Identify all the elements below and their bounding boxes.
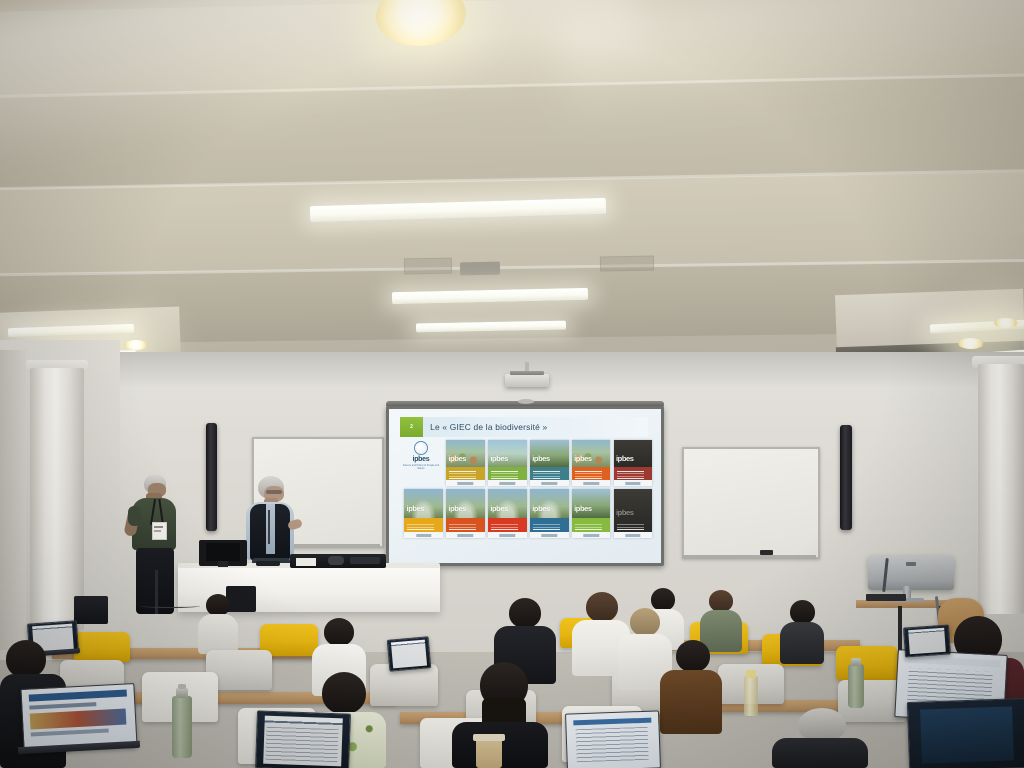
bottle-cap[interactable] bbox=[851, 658, 861, 666]
laptop[interactable] bbox=[387, 636, 432, 672]
cover-footer-mark bbox=[541, 534, 556, 536]
report-cover[interactable]: ipbes bbox=[488, 489, 527, 538]
name-badge-line bbox=[154, 530, 161, 532]
laptop-text-line bbox=[29, 702, 96, 709]
lanyard-cord bbox=[268, 510, 270, 544]
coffee-cup-lid bbox=[473, 734, 505, 741]
column-left bbox=[30, 368, 84, 630]
av-keypad[interactable] bbox=[350, 557, 380, 564]
floor-cable bbox=[140, 604, 200, 608]
audience-hair bbox=[798, 708, 846, 742]
report-cover[interactable]: ipbes bbox=[530, 440, 569, 486]
laptop[interactable] bbox=[255, 710, 351, 768]
bottle-loop bbox=[178, 684, 186, 689]
lectern-monitor-stand bbox=[218, 560, 228, 567]
ipbes-globe-icon bbox=[414, 441, 428, 455]
laptop-text-rows bbox=[266, 726, 339, 762]
audience-torso bbox=[660, 670, 722, 734]
cover-text-lines bbox=[449, 523, 476, 531]
lectern-monitor-screen bbox=[206, 543, 240, 561]
cover-text-lines bbox=[617, 471, 644, 478]
cover-text-lines bbox=[533, 471, 560, 478]
report-cover[interactable]: ipbes bbox=[572, 440, 611, 486]
presentation-slide: 2 Le « GIEC de la biodiversité » ipbes S… bbox=[389, 409, 661, 563]
audience-torso bbox=[772, 738, 868, 768]
cover-footer-mark bbox=[625, 482, 640, 484]
av-label bbox=[296, 558, 316, 566]
cover-wordmark: ipbes bbox=[407, 504, 425, 513]
slide-title-bar: 2 Le « GIEC de la biodiversité » bbox=[400, 417, 648, 437]
report-cover[interactable]: ipbes bbox=[488, 440, 527, 486]
cover-text-lines bbox=[617, 523, 644, 531]
audience-hair bbox=[709, 590, 733, 612]
cover-text-lines bbox=[491, 523, 518, 531]
cover-wordmark: ipbes bbox=[574, 454, 592, 463]
laptop-screen-content bbox=[908, 628, 947, 654]
bottle-cap[interactable] bbox=[746, 670, 756, 678]
ceiling-downlight bbox=[994, 318, 1018, 328]
cover-wordmark: ipbes bbox=[574, 504, 592, 513]
ipbes-wordmark: ipbes bbox=[413, 456, 430, 463]
cover-wordmark: ipbes bbox=[616, 454, 634, 463]
water-bottle-sage[interactable] bbox=[172, 696, 192, 758]
cover-footer-mark bbox=[416, 534, 431, 536]
audience-member bbox=[772, 708, 868, 768]
ceiling-downlight bbox=[958, 338, 984, 349]
audience-hair bbox=[676, 640, 710, 672]
laptop-header bbox=[905, 656, 1000, 668]
cover-footer-mark bbox=[541, 482, 556, 484]
report-cover[interactable]: ipbes bbox=[614, 489, 653, 538]
laptop[interactable] bbox=[903, 624, 951, 657]
coffee-cup[interactable] bbox=[476, 738, 502, 768]
name-badge-line bbox=[154, 526, 163, 528]
dell-logo-icon bbox=[906, 562, 916, 566]
report-cover[interactable]: ipbes bbox=[404, 489, 443, 538]
audience-hair bbox=[322, 672, 366, 714]
wall-return-left bbox=[0, 350, 26, 650]
slide-title: Le « GIEC de la biodiversité » bbox=[430, 422, 547, 432]
report-cover[interactable]: ipbes bbox=[446, 489, 485, 538]
laptop-image-strip bbox=[29, 708, 126, 729]
floor-speaker-box bbox=[74, 596, 108, 624]
cover-text-lines bbox=[575, 523, 602, 531]
audience-hair bbox=[790, 600, 815, 624]
ceiling-downlight bbox=[124, 340, 148, 350]
ceiling-sensor bbox=[460, 262, 500, 276]
cover-wordmark: ipbes bbox=[532, 504, 550, 513]
audience-member bbox=[196, 594, 240, 654]
projector-vent bbox=[510, 371, 544, 375]
slide-number-badge: 2 bbox=[400, 417, 422, 437]
audience-hair bbox=[630, 608, 660, 636]
report-cover[interactable]: ipbes bbox=[614, 440, 653, 486]
ceiling-projector bbox=[505, 374, 549, 387]
projection-screen: 2 Le « GIEC de la biodiversité » ipbes S… bbox=[389, 409, 661, 563]
wall-speaker-right bbox=[840, 425, 852, 530]
whiteboard-right bbox=[682, 447, 820, 559]
cover-wordmark: ipbes bbox=[448, 454, 466, 463]
cover-wordmark: ipbes bbox=[490, 504, 508, 513]
cover-footer-mark bbox=[583, 534, 598, 536]
audience-member bbox=[660, 640, 722, 734]
cover-footer-mark bbox=[500, 534, 515, 536]
ipbes-tagline: Science and Policy for People and Nature bbox=[401, 464, 440, 470]
ceiling-vent-tile bbox=[404, 258, 452, 275]
audience-torso bbox=[780, 622, 824, 664]
bottle-cap[interactable] bbox=[176, 688, 188, 698]
laptop[interactable] bbox=[907, 698, 1024, 768]
laptop-text-line bbox=[30, 729, 108, 737]
whiteboard-tray-right bbox=[682, 555, 816, 559]
cover-footer-mark bbox=[458, 482, 473, 484]
cover-text-lines bbox=[407, 523, 434, 531]
cover-footer-mark bbox=[625, 534, 640, 536]
screen-pull-handle[interactable] bbox=[518, 399, 534, 404]
laptop-browser-bar bbox=[28, 689, 127, 702]
audience-member bbox=[778, 600, 826, 664]
cover-footer-mark bbox=[458, 534, 473, 536]
wall-speaker-left bbox=[206, 423, 217, 531]
water-bottle-sage[interactable] bbox=[848, 664, 864, 708]
audience-hair bbox=[324, 618, 354, 646]
presenter-sleeve bbox=[128, 506, 141, 526]
ipbes-logo: ipbes Science and Policy for People and … bbox=[401, 441, 440, 472]
lectern-keyboard[interactable] bbox=[256, 561, 280, 566]
chair-yellow[interactable] bbox=[74, 632, 130, 662]
laptop-text-rows bbox=[576, 726, 649, 762]
laptop-screen-content bbox=[920, 706, 1015, 764]
report-cover[interactable]: ipbes bbox=[572, 489, 611, 538]
laptop-header bbox=[574, 717, 651, 725]
cover-wordmark: ipbes bbox=[490, 454, 508, 463]
ceiling-vent-tile bbox=[600, 256, 654, 272]
side-desk-laptop[interactable] bbox=[866, 594, 906, 601]
av-knob[interactable] bbox=[328, 556, 344, 565]
cover-text-lines bbox=[533, 523, 560, 531]
cover-text-lines bbox=[575, 471, 602, 478]
cover-footer-mark bbox=[500, 482, 515, 484]
laptop[interactable] bbox=[565, 710, 661, 768]
presenter-glasses bbox=[266, 490, 282, 494]
lecture-hall-photo: 2 Le « GIEC de la biodiversité » ipbes S… bbox=[0, 0, 1024, 768]
whiteboard-marker[interactable] bbox=[760, 550, 773, 555]
report-cover[interactable]: ipbes bbox=[446, 440, 485, 486]
audience-hair bbox=[586, 592, 618, 622]
cover-wordmark: ipbes bbox=[616, 508, 634, 517]
report-cover[interactable]: ipbes bbox=[530, 489, 569, 538]
water-bottle-clear[interactable] bbox=[744, 676, 758, 716]
audience-hair bbox=[6, 640, 46, 678]
audience-hair bbox=[509, 598, 541, 628]
audience-torso bbox=[198, 614, 238, 654]
cover-wordmark: ipbes bbox=[448, 504, 466, 513]
cover-wordmark: ipbes bbox=[532, 454, 550, 463]
audience-hair bbox=[206, 594, 230, 616]
cover-text-lines bbox=[449, 471, 476, 478]
presenter-standing-left bbox=[126, 474, 182, 614]
chair-yellow[interactable] bbox=[836, 646, 898, 680]
cover-footer-mark bbox=[583, 482, 598, 484]
cover-text-lines bbox=[491, 471, 518, 478]
projection-screen-frame: 2 Le « GIEC de la biodiversité » ipbes S… bbox=[386, 406, 664, 566]
column-right bbox=[978, 364, 1024, 614]
laptop-screen-content bbox=[391, 640, 427, 668]
